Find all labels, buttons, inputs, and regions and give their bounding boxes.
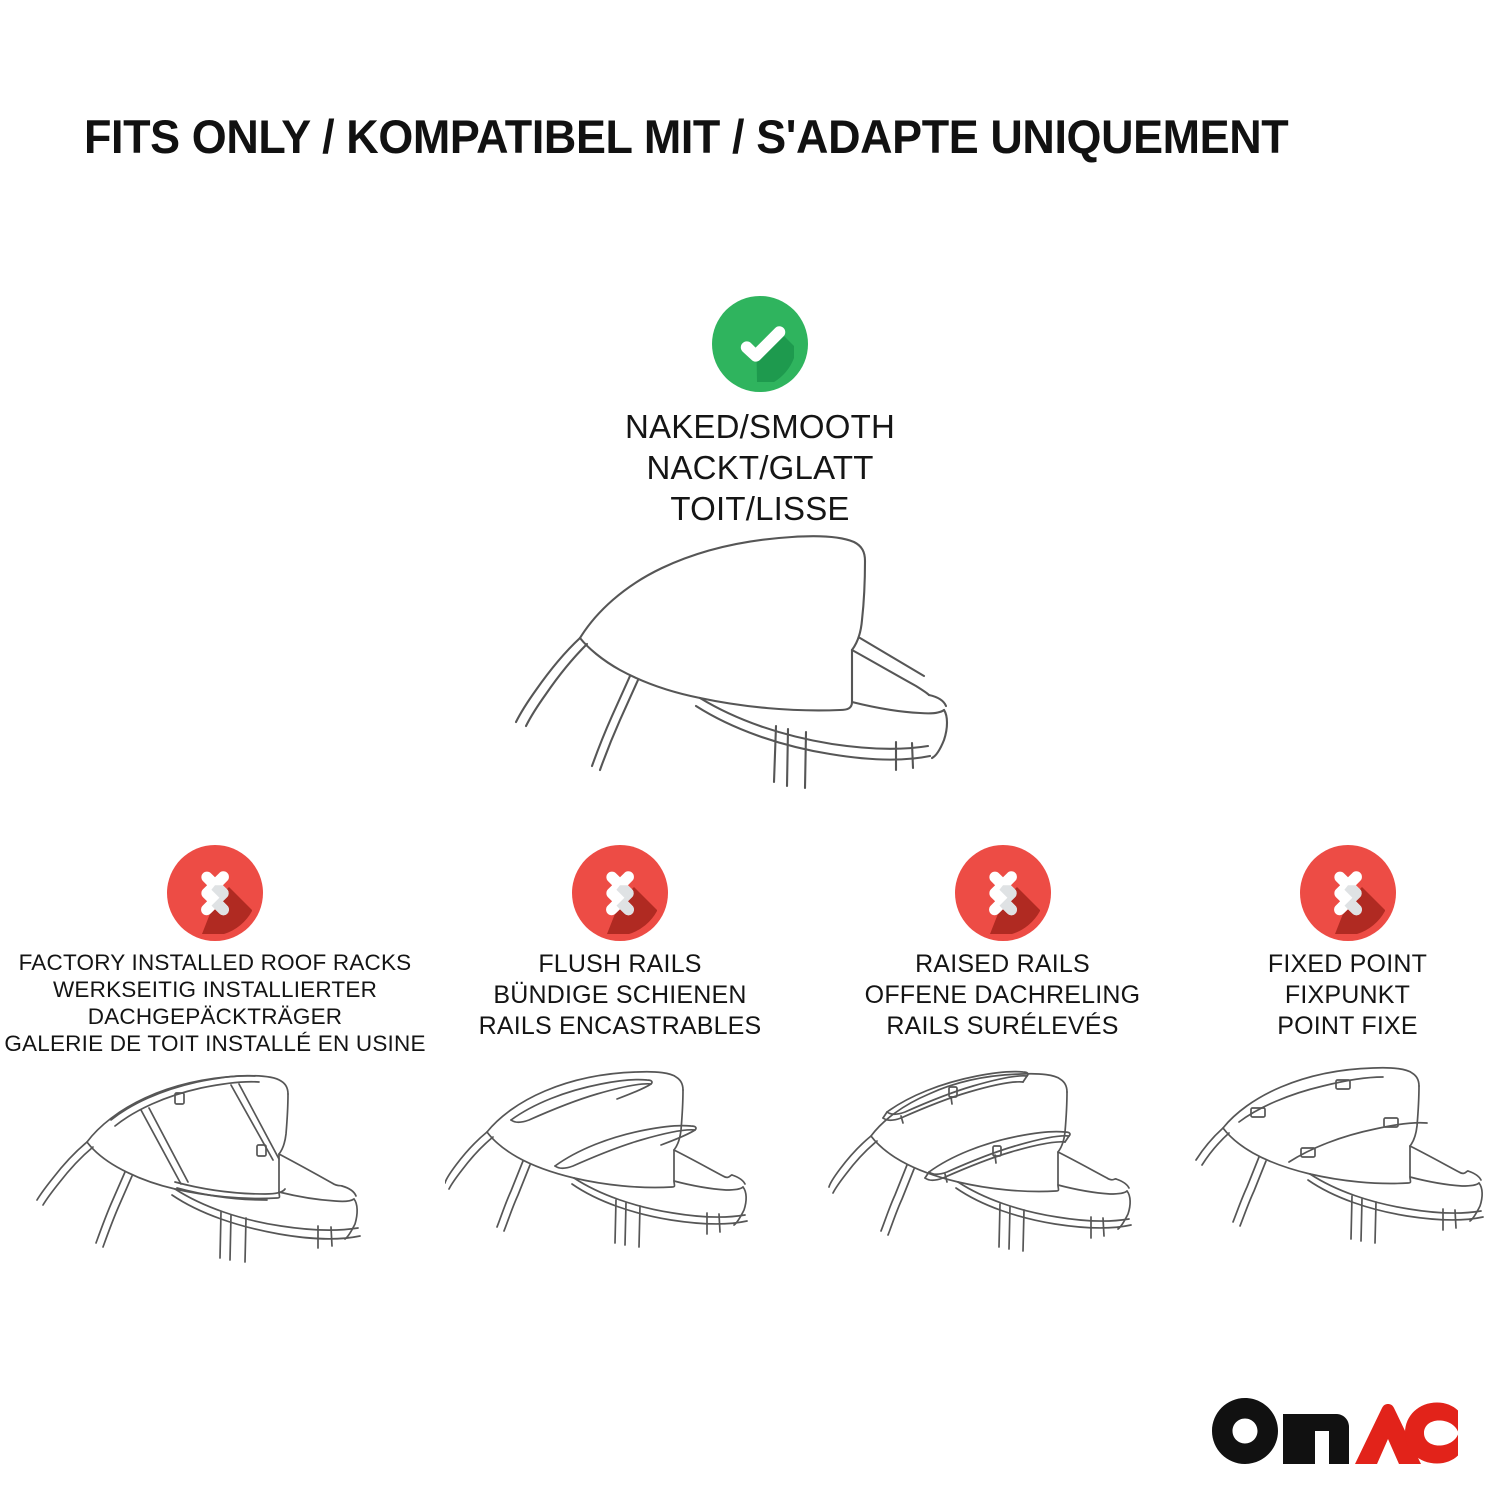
label-line-de: FIXPUNKT bbox=[1195, 980, 1500, 1011]
label-line-en: NAKED/SMOOTH bbox=[500, 406, 1020, 447]
incompatible-item-label: RAISED RAILS OFFENE DACHRELING RAILS SUR… bbox=[810, 949, 1195, 1042]
car-roof-flush-rails-illustration bbox=[430, 1060, 810, 1275]
label-line-de-1: WERKSEITIG INSTALLIERTER bbox=[0, 976, 430, 1003]
label-line-de: BÜNDIGE SCHIENEN bbox=[430, 980, 810, 1011]
page-title: FITS ONLY / KOMPATIBEL MIT / S'ADAPTE UN… bbox=[84, 108, 1364, 166]
label-line-fr: RAILS SURÉLEVÉS bbox=[810, 1011, 1195, 1042]
incompatible-roof-types-grid: FACTORY INSTALLED ROOF RACKS WERKSEITIG … bbox=[0, 845, 1500, 1315]
cross-circle-icon bbox=[1300, 845, 1396, 941]
car-roof-fixed-point-illustration bbox=[1195, 1060, 1500, 1275]
car-roof-factory-rack-illustration bbox=[0, 1060, 430, 1275]
label-line-en: FACTORY INSTALLED ROOF RACKS bbox=[0, 949, 430, 976]
label-line-fr: GALERIE DE TOIT INSTALLÉ EN USINE bbox=[0, 1030, 430, 1057]
cross-circle-icon bbox=[572, 845, 668, 941]
cross-circle-icon bbox=[167, 845, 263, 941]
omac-logo bbox=[1212, 1398, 1458, 1464]
label-line-en: FIXED POINT bbox=[1195, 949, 1500, 980]
cross-circle-icon bbox=[955, 845, 1051, 941]
label-line-de-2: DACHGEPÄCKTRÄGER bbox=[0, 1003, 430, 1030]
check-circle-icon bbox=[712, 296, 808, 392]
label-line-en: FLUSH RAILS bbox=[430, 949, 810, 980]
compatible-roof-type-block: NAKED/SMOOTH NACKT/GLATT TOIT/LISSE bbox=[500, 296, 1020, 529]
label-line-fr: POINT FIXE bbox=[1195, 1011, 1500, 1042]
car-roof-raised-rails-illustration bbox=[810, 1060, 1195, 1275]
label-line-en: RAISED RAILS bbox=[810, 949, 1195, 980]
incompatible-item-fixed-point: FIXED POINT FIXPUNKT POINT FIXE bbox=[1195, 845, 1500, 1315]
label-line-de: NACKT/GLATT bbox=[500, 447, 1020, 488]
incompatible-item-label: FIXED POINT FIXPUNKT POINT FIXE bbox=[1195, 949, 1500, 1042]
label-line-de: OFFENE DACHRELING bbox=[810, 980, 1195, 1011]
incompatible-item-flush-rails: FLUSH RAILS BÜNDIGE SCHIENEN RAILS ENCAS… bbox=[430, 845, 810, 1315]
car-roof-naked-smooth-illustration bbox=[492, 520, 1032, 810]
compatible-roof-type-label: NAKED/SMOOTH NACKT/GLATT TOIT/LISSE bbox=[500, 406, 1020, 529]
label-line-fr: RAILS ENCASTRABLES bbox=[430, 1011, 810, 1042]
incompatible-item-raised-rails: RAISED RAILS OFFENE DACHRELING RAILS SUR… bbox=[810, 845, 1195, 1315]
incompatible-item-label: FACTORY INSTALLED ROOF RACKS WERKSEITIG … bbox=[0, 949, 430, 1057]
incompatible-item-factory-installed-roof-racks: FACTORY INSTALLED ROOF RACKS WERKSEITIG … bbox=[0, 845, 430, 1315]
incompatible-item-label: FLUSH RAILS BÜNDIGE SCHIENEN RAILS ENCAS… bbox=[430, 949, 810, 1042]
